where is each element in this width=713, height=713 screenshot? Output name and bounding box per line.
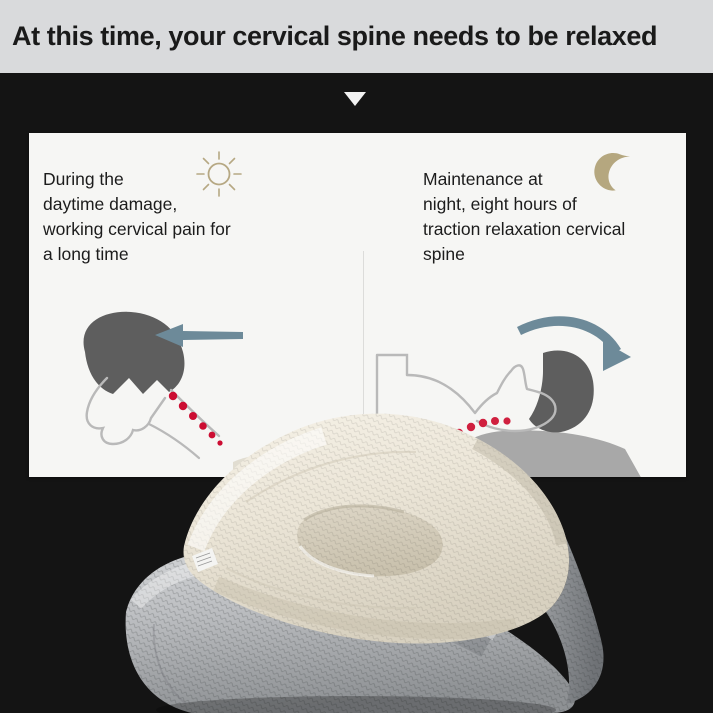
page-title: At this time, your cervical spine needs … [0,23,657,50]
infographic-canvas: At this time, your cervical spine needs … [0,0,713,713]
header-band: At this time, your cervical spine needs … [0,0,713,73]
cervical-contour-pillow [96,398,636,713]
sun-icon [192,147,246,201]
daytime-description: During the daytime damage, working cervi… [43,167,333,266]
down-triangle-icon [344,92,366,106]
moon-icon [591,147,637,193]
night-description: Maintenance at night, eight hours of tra… [423,167,686,266]
